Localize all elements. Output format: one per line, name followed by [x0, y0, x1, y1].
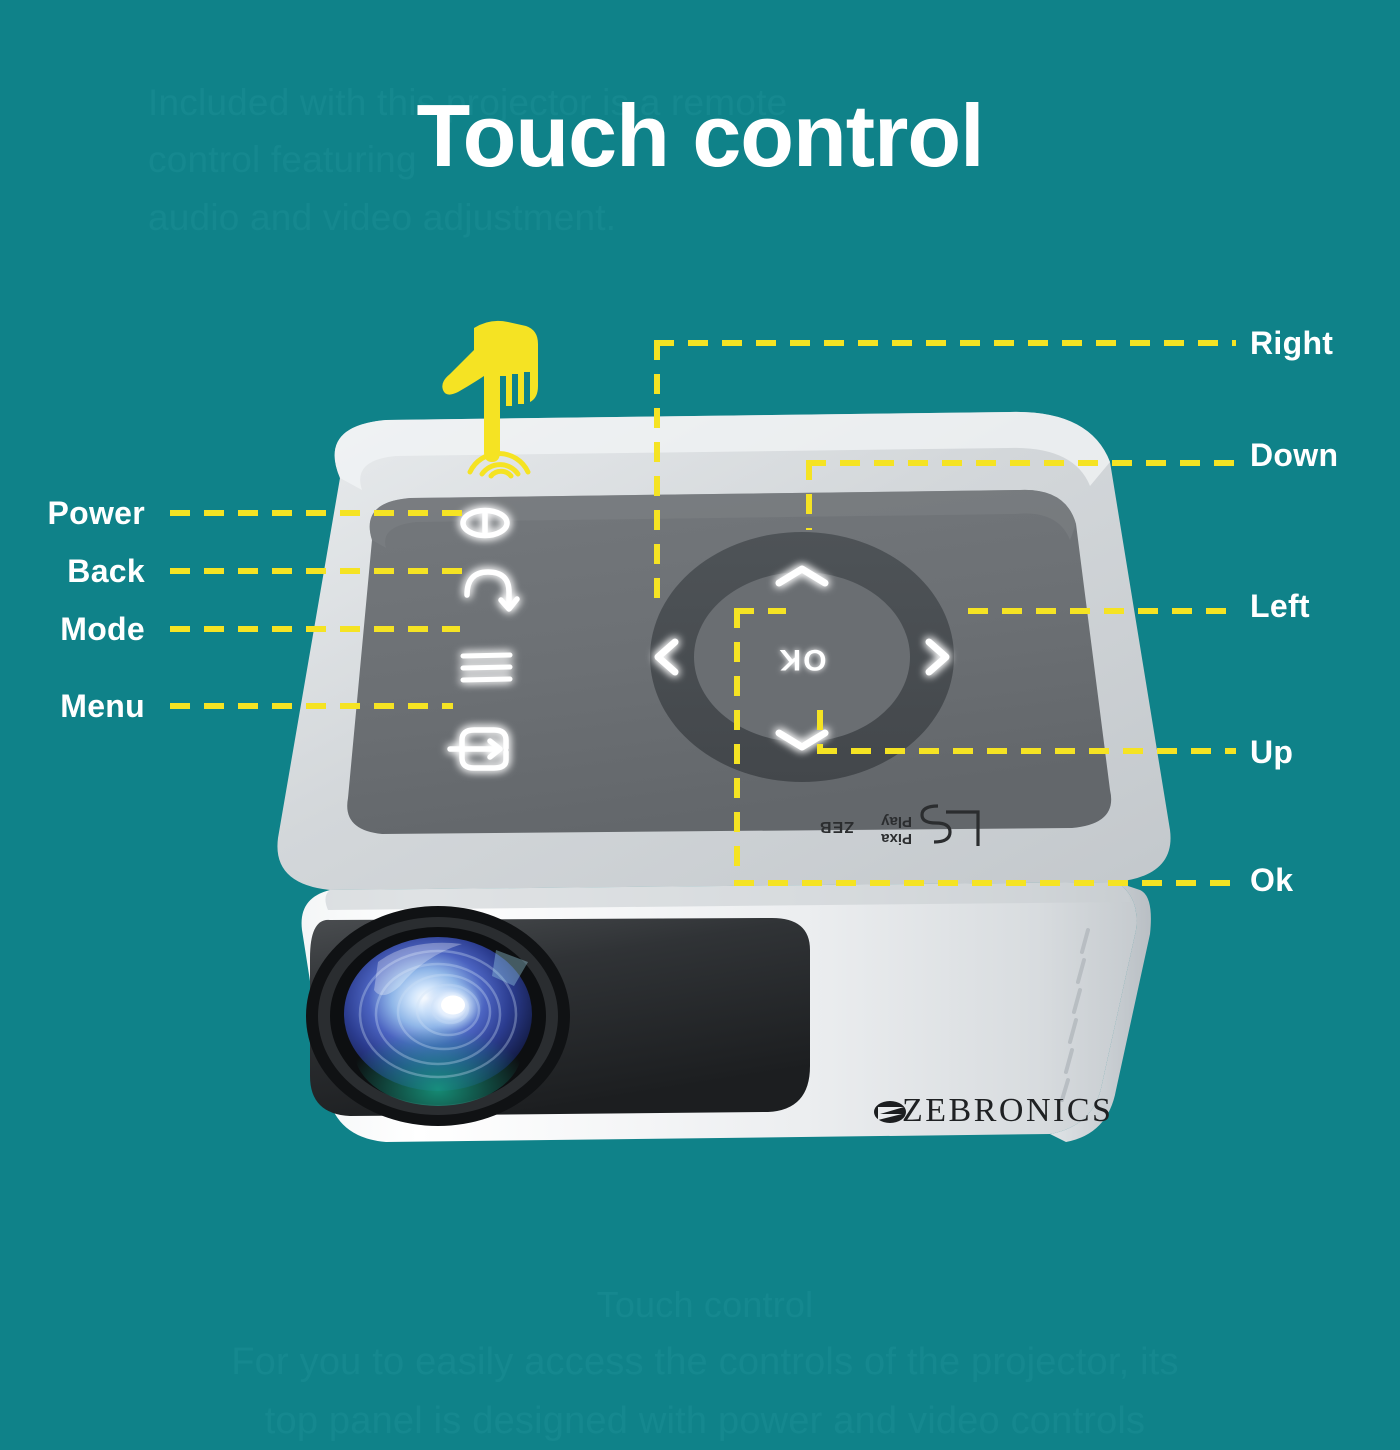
callout-label-ok[interactable]: Ok	[1250, 862, 1293, 899]
callout-label-menu[interactable]: Menu	[0, 688, 145, 725]
projector-lens	[306, 906, 570, 1126]
callout-label-mode[interactable]: Mode	[0, 611, 145, 648]
watermark-bottom-body: For you to easily access the controls of…	[231, 1341, 1178, 1442]
projector-device: OK Pixa Play ZEB	[210, 390, 1210, 1180]
projector-svg: OK Pixa Play ZEB	[210, 390, 1210, 1180]
callout-label-right[interactable]: Right	[1250, 325, 1333, 362]
infographic-canvas: Included with this projector is a remote…	[0, 0, 1400, 1400]
svg-text:Pixa: Pixa	[880, 830, 912, 847]
callout-label-up[interactable]: Up	[1250, 734, 1293, 771]
watermark-bottom-text: Touch controlFor you to easily access th…	[150, 1218, 1260, 1450]
page-title: Touch control	[0, 85, 1400, 187]
svg-text:ZEB: ZEB	[819, 818, 854, 835]
watermark-bottom-title: Touch control	[150, 1277, 1260, 1333]
brand-logo: ZEBRONICS	[874, 1092, 1113, 1129]
callout-label-left[interactable]: Left	[1250, 588, 1310, 625]
callout-label-down[interactable]: Down	[1250, 437, 1338, 474]
leader-line-right-h	[654, 340, 1236, 346]
callout-label-power[interactable]: Power	[0, 495, 145, 532]
ok-center-label: OK	[778, 643, 827, 676]
svg-text:Play: Play	[880, 813, 912, 830]
callout-label-back[interactable]: Back	[0, 553, 145, 590]
dpad-navigation-ring: OK	[650, 532, 954, 782]
brand-name: ZEBRONICS	[902, 1092, 1113, 1129]
